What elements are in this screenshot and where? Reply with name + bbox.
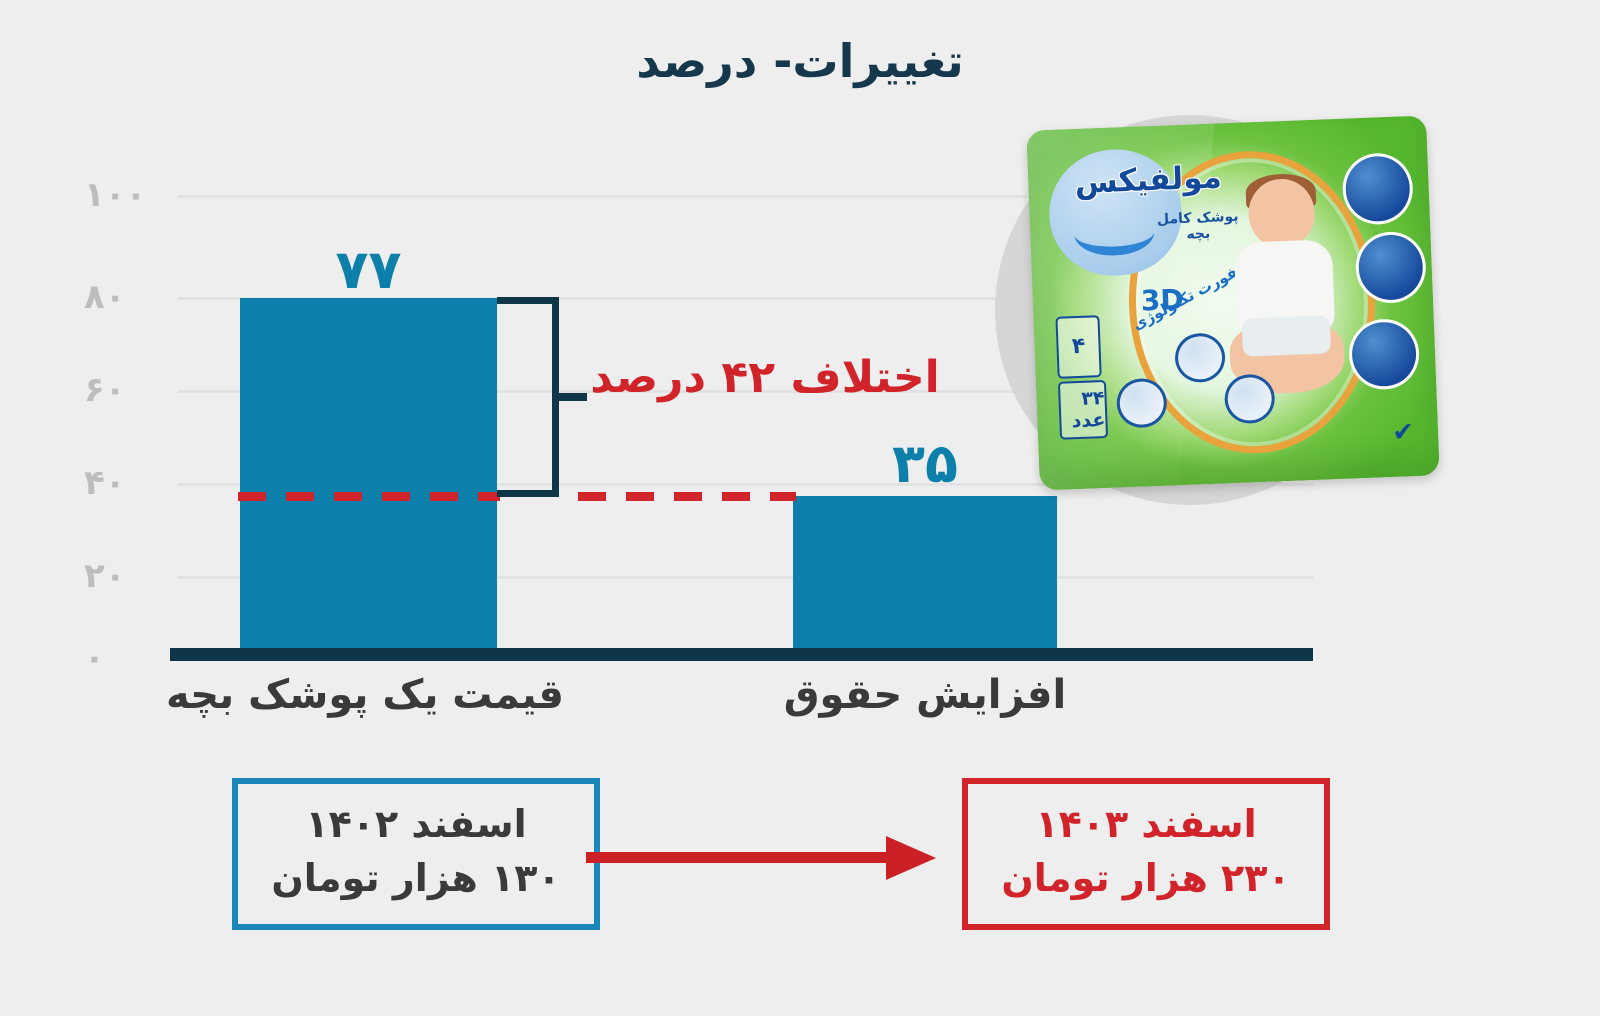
y-tick-80: ۸۰ bbox=[84, 277, 174, 317]
y-tick-20: ۲۰ bbox=[84, 556, 174, 596]
bar-caption-price: قیمت یک پوشک بچه bbox=[150, 672, 580, 718]
x-axis-line bbox=[170, 648, 1313, 661]
difference-label: اختلاف ۴۲ درصد bbox=[570, 352, 960, 403]
y-tick-60: ۶۰ bbox=[84, 370, 174, 410]
diaper-package-image: مولفیکس پوشک کامل بچه 3D کامفورت تکنولوژ… bbox=[1026, 115, 1440, 490]
bracket-top-arm bbox=[497, 297, 559, 304]
bar-price-of-one-diaper[interactable] bbox=[240, 298, 497, 660]
callout-after-date: اسفند ۱۴۰۳ bbox=[1035, 802, 1256, 846]
callout-before-amount: ۱۳۰ هزار تومان bbox=[248, 852, 584, 906]
feature-badge-3 bbox=[1348, 318, 1421, 391]
checkmark-icon: ✔ bbox=[1392, 417, 1415, 448]
bracket-bottom-arm bbox=[497, 490, 559, 497]
package-size-badge: ۴ bbox=[1055, 315, 1101, 378]
package-count-badge: ۳۴ عدد bbox=[1058, 380, 1108, 440]
callout-after[interactable]: اسفند ۱۴۰۳ ۲۳۰ هزار تومان bbox=[962, 778, 1330, 930]
reference-line-left bbox=[238, 492, 500, 501]
baby-photo bbox=[1212, 176, 1356, 404]
y-tick-40: ۴۰ bbox=[84, 463, 174, 503]
bar-value-price: ۷۷ bbox=[240, 238, 497, 301]
arrow-shaft bbox=[586, 852, 891, 863]
callout-before-date: اسفند ۱۴۰۲ bbox=[305, 802, 526, 846]
difference-bracket bbox=[497, 297, 559, 497]
reference-line-right bbox=[578, 492, 796, 501]
callout-after-amount: ۲۳۰ هزار تومان bbox=[978, 852, 1314, 906]
arrow-head bbox=[886, 836, 936, 880]
bar-salary-increase[interactable] bbox=[793, 496, 1057, 660]
callout-before[interactable]: اسفند ۱۴۰۲ ۱۳۰ هزار تومان bbox=[232, 778, 600, 930]
page-title: تغییرات- درصد bbox=[0, 34, 1600, 88]
feature-badge-1 bbox=[1341, 152, 1414, 225]
transition-arrow-icon bbox=[586, 836, 946, 880]
y-tick-100: ۱۰۰ bbox=[84, 175, 174, 215]
product-photo: مولفیکس پوشک کامل بچه 3D کامفورت تکنولوژ… bbox=[985, 105, 1455, 505]
bar-caption-salary: افزایش حقوق bbox=[745, 672, 1105, 718]
baby-diaper bbox=[1242, 315, 1330, 356]
